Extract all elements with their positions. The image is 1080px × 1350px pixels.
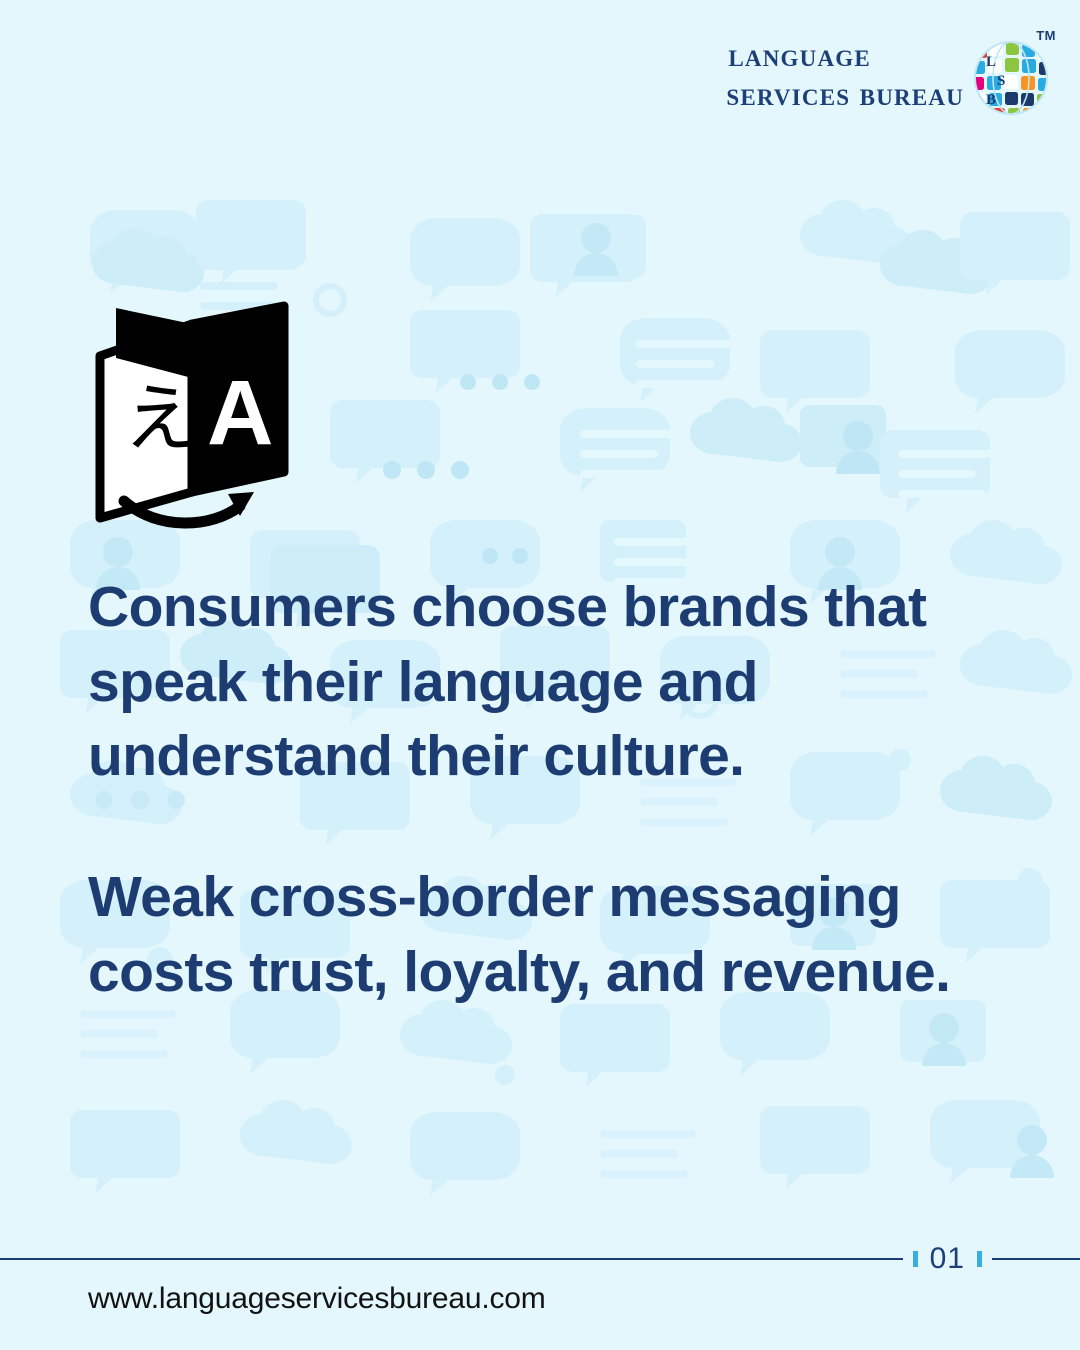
translate-right-glyph: A [207,362,273,464]
footer-rule-right [992,1258,1080,1260]
footer-rule-left [0,1258,903,1260]
footer-divider: 01 [0,1244,1080,1274]
headline-block: Consumers choose brands that speak their… [88,570,1018,1009]
social-post-canvas: language services bureau [0,0,1080,1350]
globe-letter-s: S [997,73,1005,89]
headline-paragraph-1: Consumers choose brands that speak their… [88,570,1018,794]
brand-logo[interactable]: language services bureau [726,28,1052,124]
translate-left-glyph: え [124,376,198,462]
brand-wordmark: language services bureau [726,40,964,112]
brand-globe-wrap: L S B TM [966,28,1052,124]
trademark-symbol: TM [1036,28,1056,43]
footer-tick-left [913,1251,918,1267]
page-number: 01 [928,1244,967,1274]
globe-letter-b: B [986,92,996,108]
brand-name-line-1: language [726,40,871,73]
translate-icon: え A [88,296,300,532]
footer: 01 www.languageservicesbureau.com [0,1210,1080,1350]
footer-tick-right [977,1251,982,1267]
globe-letter-l: L [986,54,996,70]
headline-paragraph-2: Weak cross-border messaging costs trust,… [88,860,1018,1009]
brand-name-line-2: services bureau [726,79,964,112]
website-url[interactable]: www.languageservicesbureau.com [88,1282,546,1316]
